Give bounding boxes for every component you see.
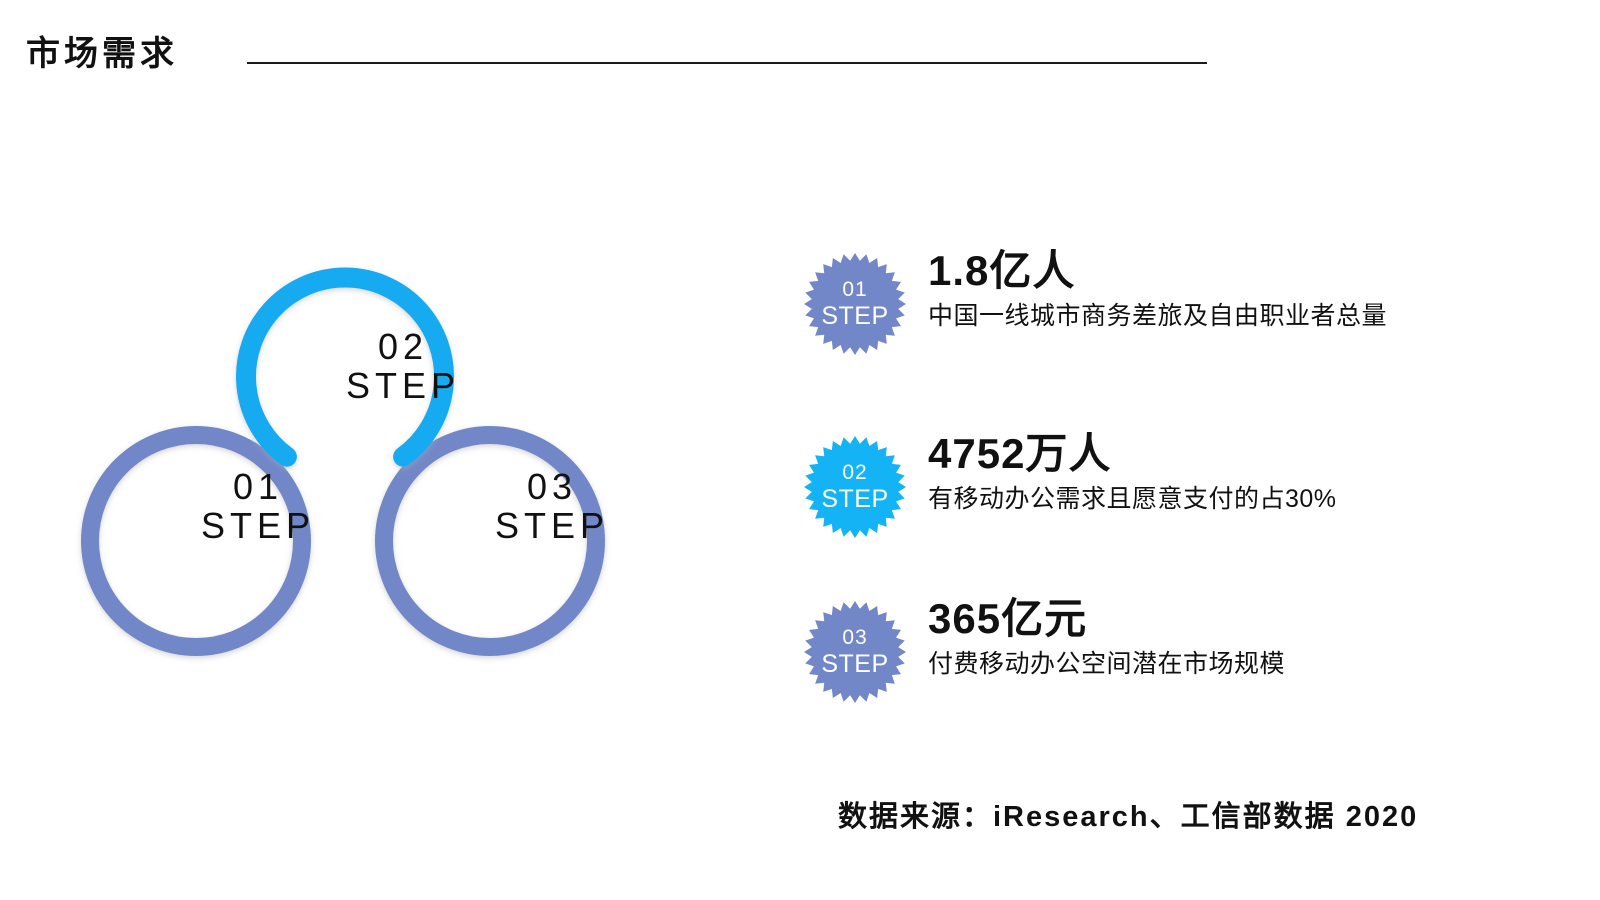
steps-ring-svg bbox=[60, 260, 640, 680]
step-ring-02[interactable] bbox=[246, 278, 444, 457]
starburst-badge-icon: 03 STEP bbox=[803, 600, 907, 704]
data-source-note: 数据来源：iResearch、工信部数据 2020 bbox=[838, 793, 1418, 835]
stat-body: 4752万人 有移动办公需求且愿意支付的占30% bbox=[928, 429, 1488, 515]
steps-ring-diagram: 01 STEP 02 STEP 03 STEP bbox=[60, 260, 640, 680]
stat-body: 1.8亿人 中国一线城市商务差旅及自由职业者总量 bbox=[928, 246, 1488, 332]
stat-item: 03 STEP 365亿元 付费移动办公空间潜在市场规模 bbox=[795, 594, 1495, 714]
stat-body: 365亿元 付费移动办公空间潜在市场规模 bbox=[928, 594, 1488, 680]
starburst-shape-03 bbox=[803, 600, 907, 704]
stat-headline: 365亿元 bbox=[928, 594, 1488, 644]
stat-headline: 4752万人 bbox=[928, 429, 1488, 479]
stat-description: 有移动办公需求且愿意支付的占30% bbox=[928, 483, 1488, 516]
starburst-badge-icon: 01 STEP bbox=[803, 252, 907, 356]
stat-item: 01 STEP 1.8亿人 中国一线城市商务差旅及自由职业者总量 bbox=[795, 246, 1495, 366]
step-ring-03[interactable] bbox=[384, 435, 596, 647]
stat-description: 付费移动办公空间潜在市场规模 bbox=[928, 648, 1488, 681]
page-title: 市场需求 bbox=[26, 37, 178, 71]
header-divider bbox=[247, 62, 1207, 64]
slide-header: 市场需求 bbox=[0, 0, 1600, 110]
stats-list: 01 STEP 1.8亿人 中国一线城市商务差旅及自由职业者总量 02 STEP… bbox=[795, 246, 1495, 716]
starburst-shape-02 bbox=[803, 435, 907, 539]
step-ring-01[interactable] bbox=[90, 435, 302, 647]
stat-item: 02 STEP 4752万人 有移动办公需求且愿意支付的占30% bbox=[795, 429, 1495, 549]
starburst-shape-01 bbox=[803, 252, 907, 356]
stat-headline: 1.8亿人 bbox=[928, 246, 1488, 296]
stat-description: 中国一线城市商务差旅及自由职业者总量 bbox=[928, 300, 1488, 333]
starburst-badge-icon: 02 STEP bbox=[803, 435, 907, 539]
